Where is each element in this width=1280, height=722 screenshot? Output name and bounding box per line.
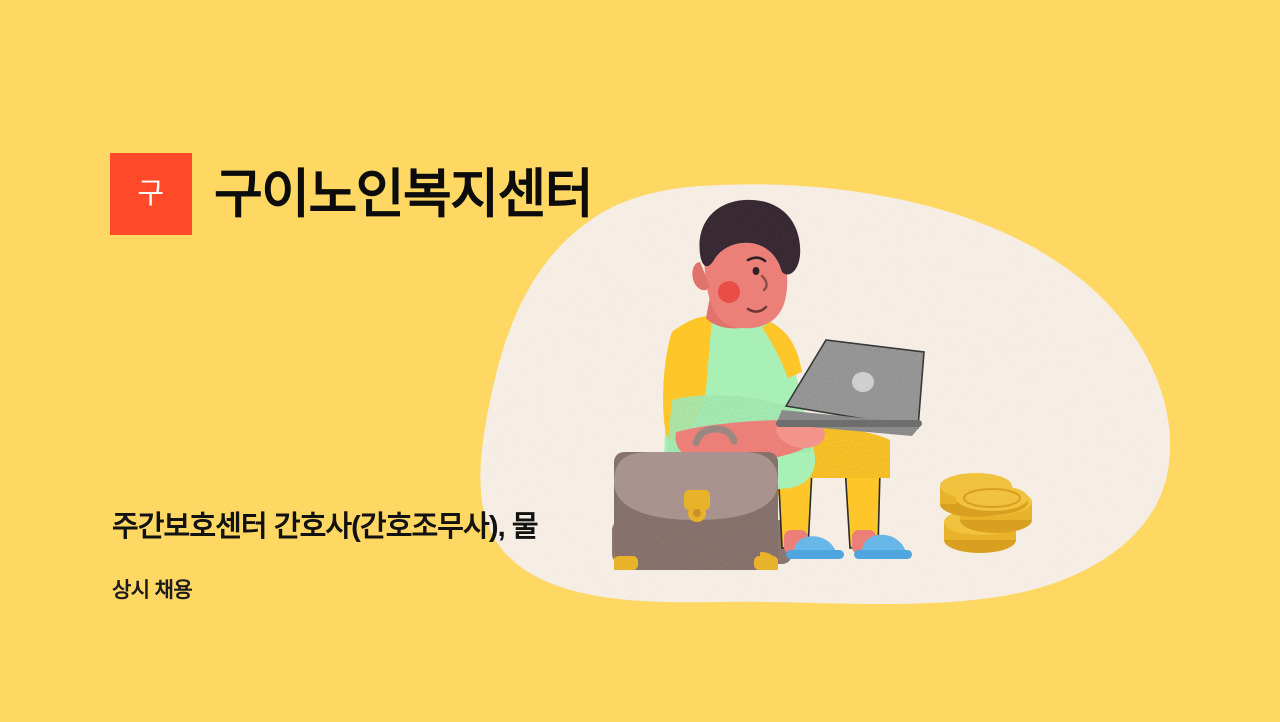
coin-stack bbox=[940, 473, 1032, 553]
person-shirt bbox=[663, 312, 815, 496]
hiring-type-label: 상시 채용 bbox=[112, 574, 192, 604]
briefcase bbox=[614, 429, 778, 570]
job-posting-card: 구 구이노인복지센터 주간보호센터 간호사(간호조무사), 물 상시 채용 bbox=[0, 0, 1280, 722]
job-title: 주간보호센터 간호사(간호조무사), 물 bbox=[112, 503, 538, 545]
illustration-person-working-on-laptop bbox=[0, 0, 1280, 722]
blob-backdrop bbox=[0, 0, 1280, 722]
person-shoes bbox=[786, 535, 912, 559]
laptop bbox=[776, 340, 924, 436]
person-hair bbox=[699, 200, 800, 275]
coin-upper bbox=[940, 473, 1012, 517]
coin-top bbox=[956, 485, 1028, 515]
coin-bottom bbox=[944, 509, 1016, 553]
person-head bbox=[692, 235, 787, 328]
person-ankles bbox=[784, 530, 876, 554]
person-pants bbox=[700, 428, 890, 548]
person-neck bbox=[706, 284, 760, 328]
company-logo-initial: 구 bbox=[137, 180, 164, 209]
company-header: 구 구이노인복지센터 bbox=[110, 131, 592, 258]
seat-bench bbox=[612, 520, 792, 564]
company-name: 구이노인복지센터 bbox=[214, 167, 592, 223]
company-logo-badge: 구 bbox=[110, 153, 192, 235]
person-arm bbox=[675, 417, 824, 462]
coin-middle bbox=[960, 489, 1032, 533]
